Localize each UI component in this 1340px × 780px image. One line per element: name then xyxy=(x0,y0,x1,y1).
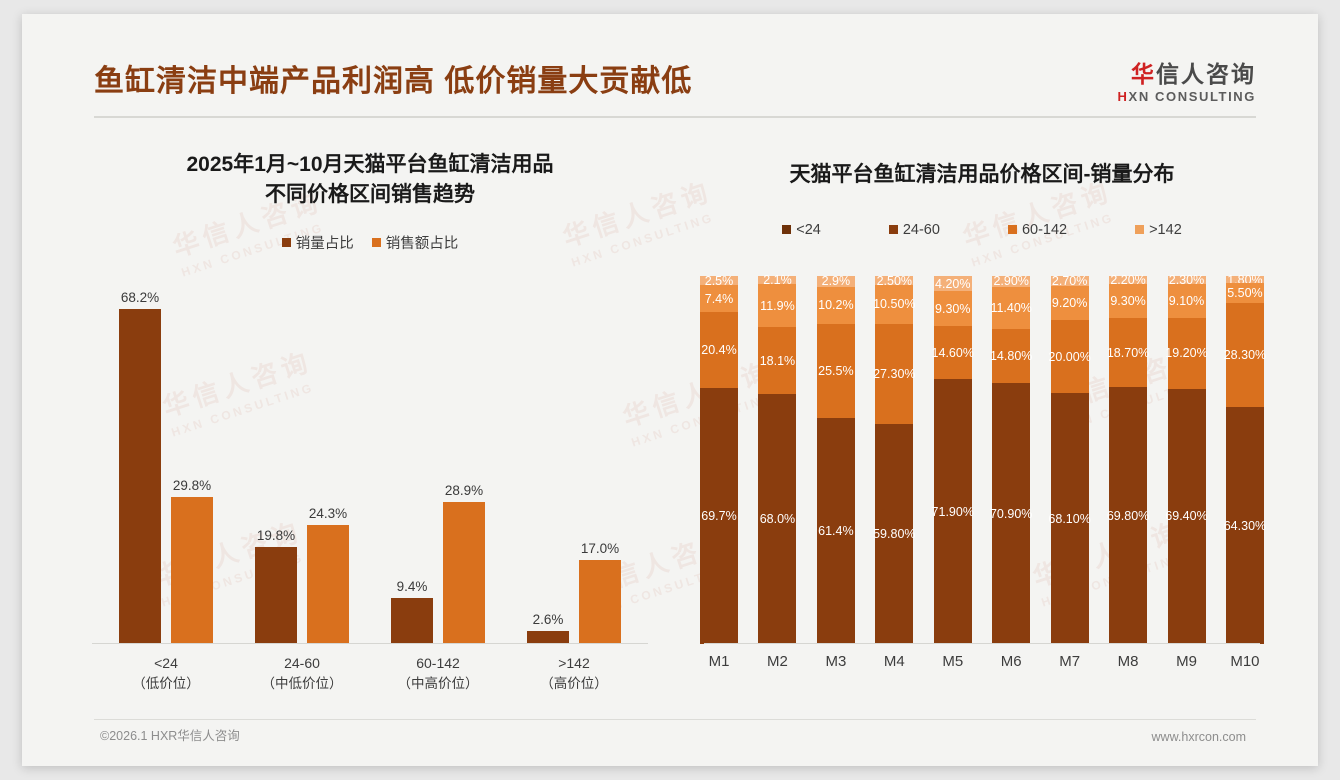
left-chart-legend: 销量占比销售额占比 xyxy=(70,232,670,253)
left-chart-plot: 68.2%29.8%19.8%24.3%9.4%28.9%2.6%17.0% <… xyxy=(70,290,670,644)
right-chart-legend: <2424-6060-142>142 xyxy=(682,222,1282,238)
stack-segment[interactable]: 18.70% xyxy=(1109,318,1147,387)
bar-group: 9.4%28.9% xyxy=(378,290,498,644)
x-axis-label: 24-60（中低价位） xyxy=(242,653,362,694)
logo-chinese-text: 华信人咨询 xyxy=(1118,62,1256,86)
left-legend-label: 销售额占比 xyxy=(386,232,459,253)
bar-group: 2.6%17.0% xyxy=(514,290,634,644)
stack-segment-label: 68.0% xyxy=(760,512,795,526)
bar-column[interactable]: 19.8% xyxy=(255,290,297,644)
stack-segment-label: 19.20% xyxy=(1165,346,1207,360)
bar-group: 68.2%29.8% xyxy=(106,290,226,644)
left-legend-label: 销量占比 xyxy=(296,232,354,253)
left-chart-panel: 2025年1月~10月天猫平台鱼缸清洁用品 不同价格区间销售趋势 销量占比销售额… xyxy=(70,118,670,706)
x-axis-label: M6 xyxy=(992,653,1030,670)
stacked-bar[interactable]: 1.80%5.50%28.30%64.30% xyxy=(1226,276,1264,644)
right-legend-label: >142 xyxy=(1149,222,1182,238)
stack-segment-label: 14.80% xyxy=(990,349,1032,363)
stack-segment[interactable]: 9.20% xyxy=(1051,286,1089,320)
stack-segment-label: 25.5% xyxy=(818,364,853,378)
logo-en-rest: XN CONSULTING xyxy=(1129,89,1256,104)
stack-segment-label: 9.10% xyxy=(1169,294,1204,308)
right-legend-label: <24 xyxy=(796,222,821,238)
x-axis-label: M4 xyxy=(875,653,913,670)
stack-segment[interactable]: 20.4% xyxy=(700,312,738,387)
bar-value-label: 19.8% xyxy=(257,528,295,543)
stack-segment[interactable]: 7.4% xyxy=(700,285,738,312)
x-axis-label: M10 xyxy=(1226,653,1264,670)
bar[interactable] xyxy=(391,598,433,644)
stack-segment[interactable]: 18.1% xyxy=(758,327,796,394)
stacked-bar[interactable]: 2.1%11.9%18.1%68.0% xyxy=(758,276,796,644)
x-axis-label-main: 24-60 xyxy=(242,653,362,674)
stack-segment-label: 7.4% xyxy=(705,292,734,306)
stack-segment-label: 9.30% xyxy=(935,302,970,316)
bar-column[interactable]: 9.4% xyxy=(391,290,433,644)
stack-segment-label: 14.60% xyxy=(932,346,974,360)
right-legend-item[interactable]: <24 xyxy=(782,222,821,238)
stack-segment-label: 10.2% xyxy=(818,298,853,312)
stack-segment-label: 69.80% xyxy=(1107,509,1149,523)
right-legend-label: 24-60 xyxy=(903,222,940,238)
stack-segment-label: 70.90% xyxy=(990,507,1032,521)
stack-segment-label: 18.1% xyxy=(760,354,795,368)
x-axis-label: 60-142（中高价位） xyxy=(378,653,498,694)
x-axis-label: M9 xyxy=(1168,653,1206,670)
stack-segment[interactable]: 68.10% xyxy=(1051,393,1089,644)
x-axis-label: M3 xyxy=(817,653,855,670)
stack-segment[interactable]: 2.90% xyxy=(992,276,1030,287)
stacked-bar[interactable]: 2.20%9.30%18.70%69.80% xyxy=(1109,276,1147,644)
stack-segment-label: 71.90% xyxy=(932,505,974,519)
bar-value-label: 2.6% xyxy=(533,612,564,627)
stack-segment-label: 27.30% xyxy=(873,367,915,381)
logo-cn-rest: 信人咨询 xyxy=(1156,61,1256,87)
stack-segment[interactable]: 59.80% xyxy=(875,424,913,644)
bar-value-label: 28.9% xyxy=(445,483,483,498)
stack-segment-label: 28.30% xyxy=(1224,348,1266,362)
stack-segment[interactable]: 9.30% xyxy=(1109,284,1147,318)
stack-segment[interactable]: 70.90% xyxy=(992,383,1030,644)
stack-segment-label: 69.40% xyxy=(1165,509,1207,523)
x-axis-label-main: 60-142 xyxy=(378,653,498,674)
legend-swatch-icon xyxy=(372,238,381,247)
legend-swatch-icon xyxy=(1008,225,1017,234)
x-axis-label: M8 xyxy=(1109,653,1147,670)
stack-segment-label: 69.7% xyxy=(701,509,736,523)
stack-segment[interactable]: 69.7% xyxy=(700,388,738,644)
stack-segment[interactable]: 71.90% xyxy=(934,379,972,644)
logo-english-text: HXN CONSULTING xyxy=(1118,89,1256,104)
stack-segment[interactable]: 2.50% xyxy=(875,276,913,285)
stack-segment[interactable]: 5.50% xyxy=(1226,283,1264,303)
stack-segment[interactable]: 11.9% xyxy=(758,284,796,328)
bar-column[interactable]: 29.8% xyxy=(171,290,213,644)
stack-segment-label: 9.30% xyxy=(1110,294,1145,308)
legend-swatch-icon xyxy=(782,225,791,234)
stack-segment[interactable]: 11.40% xyxy=(992,287,1030,329)
footer-website: www.hxrcon.com xyxy=(1152,730,1246,744)
stack-segment[interactable]: 2.20% xyxy=(1109,276,1147,284)
right-legend-item[interactable]: 24-60 xyxy=(889,222,940,238)
right-legend-label: 60-142 xyxy=(1022,222,1067,238)
right-legend-item[interactable]: >142 xyxy=(1135,222,1182,238)
stack-segment-label: 4.20% xyxy=(935,277,970,291)
bar[interactable] xyxy=(307,525,349,644)
stack-segment[interactable]: 10.50% xyxy=(875,285,913,324)
stack-segment[interactable]: 4.20% xyxy=(934,276,972,291)
stack-segment[interactable]: 2.1% xyxy=(758,276,796,284)
stacked-bar[interactable]: 2.5%7.4%20.4%69.7% xyxy=(700,276,738,644)
right-legend-item[interactable]: 60-142 xyxy=(1008,222,1067,238)
stack-segment-label: 64.30% xyxy=(1224,519,1266,533)
stack-segment-label: 20.00% xyxy=(1048,350,1090,364)
stack-segment[interactable]: 1.80% xyxy=(1226,276,1264,283)
x-axis-label: M5 xyxy=(934,653,972,670)
x-axis-label-sub: （中高价位） xyxy=(378,674,498,694)
left-chart-title-line1: 2025年1月~10月天猫平台鱼缸清洁用品 xyxy=(70,150,670,180)
stacked-bar[interactable]: 2.90%11.40%14.80%70.90% xyxy=(992,276,1030,644)
right-chart-panel: 天猫平台鱼缸清洁用品价格区间-销量分布 <2424-6060-142>142 2… xyxy=(682,118,1282,706)
stack-segment[interactable]: 61.4% xyxy=(817,418,855,644)
bar[interactable] xyxy=(443,502,485,644)
stack-segment-label: 61.4% xyxy=(818,524,853,538)
x-axis-label-sub: （中低价位） xyxy=(242,674,362,694)
stack-segment[interactable]: 9.10% xyxy=(1168,284,1206,317)
stack-segment[interactable]: 20.00% xyxy=(1051,320,1089,394)
footer-copyright: ©2026.1 HXR华信人咨询 xyxy=(100,725,240,744)
stack-segment-label: 68.10% xyxy=(1048,512,1090,526)
bar[interactable] xyxy=(255,547,297,644)
right-chart-plot: 2.5%7.4%20.4%69.7%2.1%11.9%18.1%68.0%2.9… xyxy=(682,276,1282,644)
legend-swatch-icon xyxy=(282,238,291,247)
stack-segment[interactable]: 2.30% xyxy=(1168,276,1206,284)
bar-value-label: 17.0% xyxy=(581,541,619,556)
bar-column[interactable]: 2.6% xyxy=(527,290,569,644)
company-logo: 华信人咨询 HXN CONSULTING xyxy=(1118,62,1256,104)
bar-column[interactable]: 17.0% xyxy=(579,290,621,644)
stack-segment-label: 11.40% xyxy=(990,301,1031,315)
right-chart-title: 天猫平台鱼缸清洁用品价格区间-销量分布 xyxy=(682,118,1282,190)
legend-swatch-icon xyxy=(889,225,898,234)
left-chart-title: 2025年1月~10月天猫平台鱼缸清洁用品 不同价格区间销售趋势 xyxy=(70,118,670,210)
logo-en-accent: H xyxy=(1118,89,1129,104)
stack-segment[interactable]: 14.80% xyxy=(992,329,1030,383)
stack-segment[interactable]: 9.30% xyxy=(934,291,972,325)
bar-column[interactable]: 28.9% xyxy=(443,290,485,644)
x-axis-label: <24（低价位） xyxy=(106,653,226,694)
logo-cn-accent: 华 xyxy=(1131,61,1156,87)
stack-segment[interactable]: 19.20% xyxy=(1168,318,1206,389)
bar-group: 19.8%24.3% xyxy=(242,290,362,644)
stack-segment-label: 11.9% xyxy=(760,299,795,313)
stack-segment[interactable]: 69.80% xyxy=(1109,387,1147,644)
stack-segment[interactable]: 64.30% xyxy=(1226,407,1264,644)
bar-column[interactable]: 24.3% xyxy=(307,290,349,644)
left-legend-item[interactable]: 销售额占比 xyxy=(372,232,459,253)
left-chart-title-line2: 不同价格区间销售趋势 xyxy=(70,180,670,210)
stacked-bar[interactable]: 2.9%10.2%25.5%61.4% xyxy=(817,276,855,644)
bar[interactable] xyxy=(119,309,161,644)
bar-value-label: 68.2% xyxy=(121,290,159,305)
stack-segment[interactable]: 28.30% xyxy=(1226,303,1264,407)
bar-column[interactable]: 68.2% xyxy=(119,290,161,644)
stack-segment-label: 5.50% xyxy=(1227,286,1262,300)
x-axis-label: >142（高价位） xyxy=(514,653,634,694)
stack-segment[interactable]: 27.30% xyxy=(875,324,913,424)
x-axis-label-main: >142 xyxy=(514,653,634,674)
page-title: 鱼缸清洁中端产品利润高 低价销量大贡献低 xyxy=(94,56,692,100)
left-legend-item[interactable]: 销量占比 xyxy=(282,232,354,253)
slide-header: 鱼缸清洁中端产品利润高 低价销量大贡献低 华信人咨询 HXN CONSULTIN… xyxy=(22,14,1318,104)
slide: 华信人咨询 HXN CONSULTING 华信人咨询 HXN CONSULTIN… xyxy=(22,14,1318,766)
stack-segment[interactable]: 2.9% xyxy=(817,276,855,287)
x-axis-label: M1 xyxy=(700,653,738,670)
bar-value-label: 29.8% xyxy=(173,478,211,493)
bar-value-label: 9.4% xyxy=(397,579,428,594)
stacked-bar[interactable]: 2.50%10.50%27.30%59.80% xyxy=(875,276,913,644)
stacked-bar[interactable]: 2.70%9.20%20.00%68.10% xyxy=(1051,276,1089,644)
bar-value-label: 24.3% xyxy=(309,506,347,521)
bar[interactable] xyxy=(171,497,213,644)
stack-segment-label: 9.20% xyxy=(1052,296,1087,310)
stack-segment[interactable]: 10.2% xyxy=(817,287,855,325)
footer-divider xyxy=(94,719,1256,720)
legend-swatch-icon xyxy=(1135,225,1144,234)
stack-segment[interactable]: 69.40% xyxy=(1168,389,1206,644)
stacked-bar[interactable]: 4.20%9.30%14.60%71.90% xyxy=(934,276,972,644)
x-axis-label-sub: （高价位） xyxy=(514,674,634,694)
x-axis-label-main: <24 xyxy=(106,653,226,674)
x-axis-label-sub: （低价位） xyxy=(106,674,226,694)
stack-segment[interactable]: 2.70% xyxy=(1051,276,1089,286)
stack-segment-label: 10.50% xyxy=(873,297,915,311)
bar[interactable] xyxy=(579,560,621,644)
stack-segment[interactable]: 68.0% xyxy=(758,394,796,644)
stack-segment[interactable]: 14.60% xyxy=(934,326,972,380)
stacked-bar[interactable]: 2.30%9.10%19.20%69.40% xyxy=(1168,276,1206,644)
charts-area: 2025年1月~10月天猫平台鱼缸清洁用品 不同价格区间销售趋势 销量占比销售额… xyxy=(22,118,1318,706)
stack-segment-label: 18.70% xyxy=(1107,346,1149,360)
stack-segment-label: 59.80% xyxy=(873,527,915,541)
x-axis-label: M2 xyxy=(758,653,796,670)
x-axis-label: M7 xyxy=(1051,653,1089,670)
stack-segment[interactable]: 2.5% xyxy=(700,276,738,285)
stack-segment-label: 20.4% xyxy=(701,343,736,357)
stack-segment[interactable]: 25.5% xyxy=(817,324,855,418)
